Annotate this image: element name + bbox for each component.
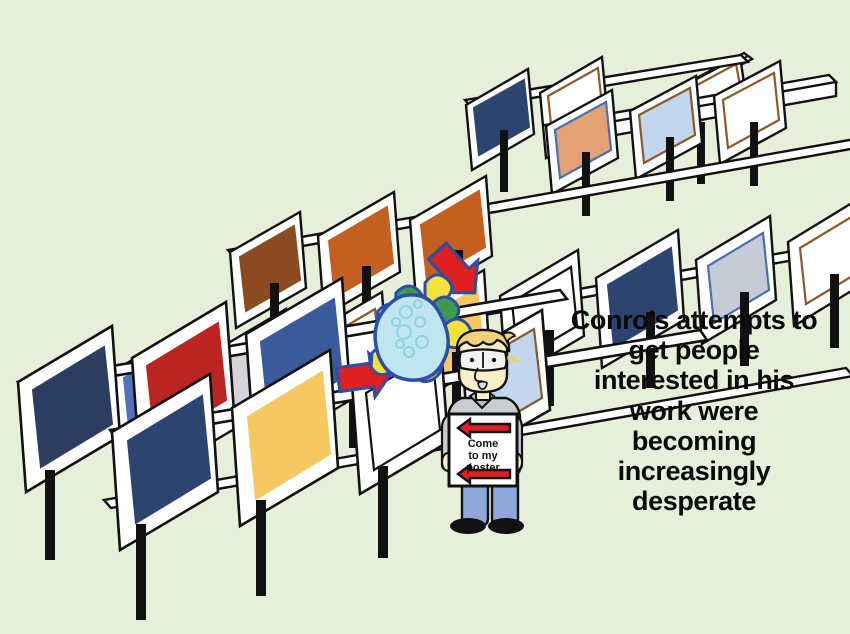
mouth	[478, 382, 487, 390]
shoe-right	[488, 518, 524, 534]
shoe-left	[450, 518, 486, 534]
sign-line-3: poster	[466, 462, 500, 474]
eye-left	[470, 358, 474, 362]
sign-line-1: Come	[468, 438, 499, 450]
sign-line-2: to my	[468, 450, 498, 462]
cartoon-scene: Come to my poster	[0, 0, 850, 634]
virus-body	[375, 295, 448, 380]
sandwich-sign[interactable]: Come to my poster	[449, 414, 517, 486]
eye-right	[492, 358, 496, 362]
